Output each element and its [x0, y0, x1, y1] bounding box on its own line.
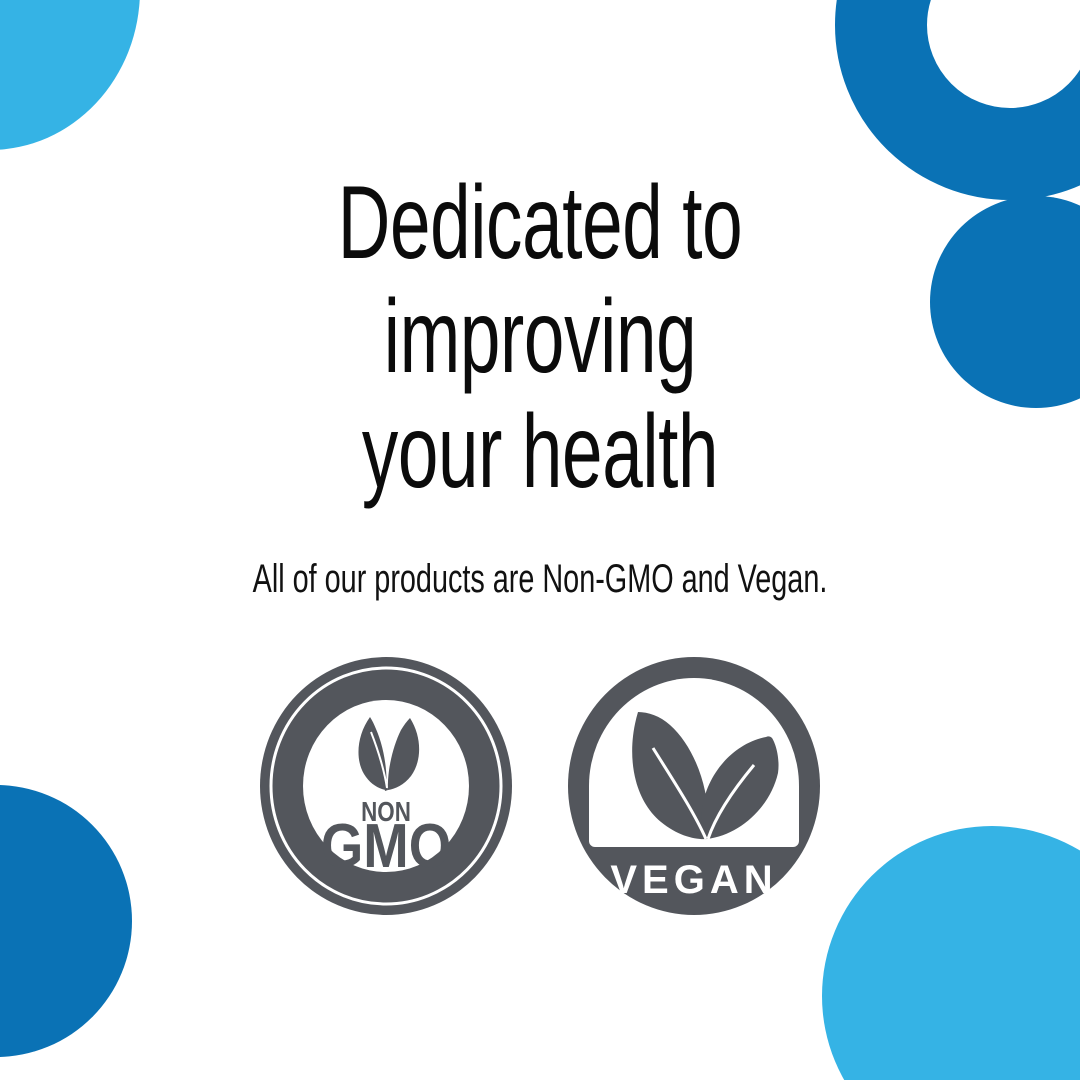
certification-badges: NON GMO: [258, 655, 822, 917]
page-title: Dedicated to improving your health: [309, 166, 771, 509]
non-gmo-label-large: GMO: [321, 812, 451, 881]
vegan-label: VEGAN: [610, 858, 777, 902]
content-column: Dedicated to improving your health All o…: [0, 0, 1080, 1080]
vegan-badge: VEGAN: [566, 655, 822, 917]
subtitle: All of our products are Non-GMO and Vega…: [180, 555, 900, 603]
non-gmo-badge: NON GMO: [258, 655, 514, 917]
promo-banner: Dedicated to improving your health All o…: [0, 0, 1080, 1080]
